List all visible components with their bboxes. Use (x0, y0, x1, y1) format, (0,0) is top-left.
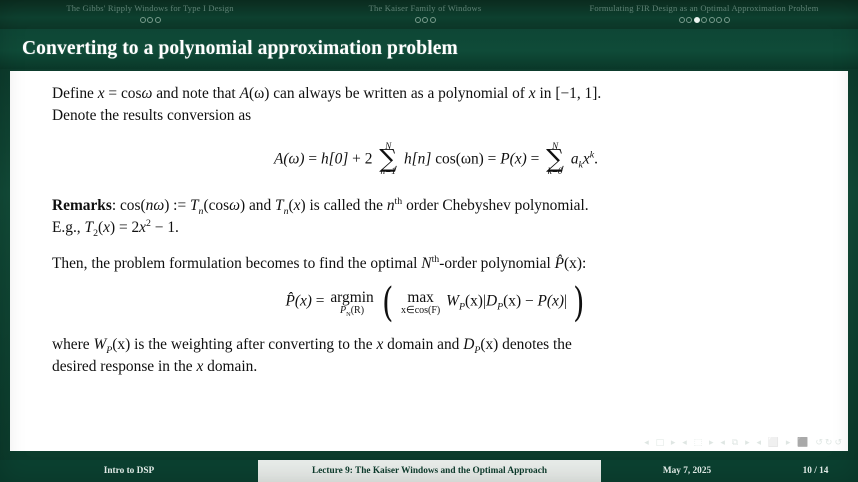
where-line-2: desired response in the x domain. (52, 356, 820, 378)
beamer-headline-navigation: The Gibbs' Ripply Windows for Type I Des… (0, 0, 858, 29)
eq1-Px: P(x) (500, 150, 526, 167)
desired-D: D (463, 336, 474, 353)
var-omega: ω (153, 197, 164, 214)
footer-author: Intro to DSP (0, 460, 258, 482)
page-title: Converting to a polynomial approximation… (22, 38, 458, 60)
max-operator: max x∈cos(F) (401, 290, 440, 316)
weight-W: W (93, 336, 106, 353)
nav-section-dots[interactable] (550, 15, 858, 24)
text: can always be written as a polynomial of (269, 85, 528, 102)
remarks-line-2: E.g., T2(x) = 2x2 − 1. (52, 217, 820, 239)
weight-W: W (446, 293, 459, 310)
max-domain: x∈cos(F) (401, 305, 440, 316)
remarks-line-1: Remarks: cos(nω) := Tn(cosω) and Tn(x) i… (52, 195, 820, 217)
paragraph-then: Then, the problem formulation becomes to… (52, 253, 820, 275)
poly-P-arg: (x) (564, 255, 582, 272)
desired-D-arg: (x) (503, 293, 521, 310)
var-x: x (98, 85, 105, 102)
nav-section-dots[interactable] (300, 15, 550, 24)
nav-dot[interactable] (155, 17, 161, 23)
paragraph-remarks: Remarks: cos(nω) := Tn(cosω) and Tn(x) i… (52, 195, 820, 239)
text: and note that (152, 85, 239, 102)
nav-dot[interactable] (686, 17, 692, 23)
var-N: N (421, 255, 431, 272)
sum-lower-limit: n=1 (379, 167, 397, 176)
poly-Px: P(x) (538, 293, 564, 310)
paren-open: ( (382, 289, 393, 317)
nav-dot[interactable] (422, 17, 428, 23)
eq1-cos: cos(ωn) (435, 150, 484, 167)
nav-section-title: The Gibbs' Ripply Windows for Type I Des… (0, 3, 300, 13)
cheb-T: T (85, 219, 94, 236)
eq1-h0: h[0] (321, 150, 348, 167)
nav-dot[interactable] (415, 17, 421, 23)
eq1-equals-2: = (488, 150, 497, 167)
define-line-2: Denote the results conversion as (52, 105, 820, 127)
paren-close: ) (573, 289, 584, 317)
eq1-period: . (594, 150, 598, 167)
nav-section-formulating[interactable]: Formulating FIR Design as an Optimal App… (550, 0, 858, 24)
max-label: max (401, 290, 440, 306)
nav-section-title: The Kaiser Family of Windows (300, 3, 550, 13)
text: is the weighting after converting to the (130, 336, 376, 353)
eq1-var-x: x (583, 150, 590, 167)
eq1-coeff-a: a (571, 150, 579, 167)
minus-sign: − (521, 293, 537, 310)
interval: [−1, 1]. (555, 85, 601, 102)
text: Then, the problem formulation becomes to… (52, 255, 421, 272)
text: in (536, 85, 556, 102)
nav-dot[interactable] (147, 17, 153, 23)
text: : (112, 197, 120, 214)
nav-dot[interactable] (716, 17, 722, 23)
frame-title-bar: Converting to a polynomial approximation… (0, 29, 858, 69)
weight-W-arg: (x) (112, 336, 130, 353)
abs-bar-close: | (564, 293, 567, 310)
var-x: x (529, 85, 536, 102)
summation-k: N ∑ k=0 (546, 142, 564, 176)
func-A: A (240, 85, 249, 102)
text: ) and (240, 197, 275, 214)
text: cos( (120, 197, 146, 214)
nav-section-gibbs[interactable]: The Gibbs' Ripply Windows for Type I Des… (0, 0, 300, 24)
text: denotes the (498, 336, 572, 353)
beamer-navigation-symbols[interactable]: ◂ □ ▸ ◂ ⬚ ▸ ◂ ⧉ ▸ ◂ ⬜ ▸ ⬛ ↺↻↺ (644, 438, 844, 448)
argmin-domain: PN(R) (330, 305, 373, 316)
func-A-arg: (ω) (249, 85, 269, 102)
text: ) is called the (301, 197, 387, 214)
footer-lecture-title: Lecture 9: The Kaiser Windows and the Op… (258, 460, 601, 482)
text: E.g., (52, 219, 85, 236)
var-x: x (139, 219, 146, 236)
define-line-1: Define x = cosω and note that A(ω) can a… (52, 83, 820, 105)
argmin-operator: argmin PN(R) (330, 290, 373, 316)
desired-D-arg: (x) (480, 336, 498, 353)
poly-space-field: (R) (351, 305, 364, 316)
footer-date: May 7, 2025 (601, 460, 773, 482)
var-n: n (387, 197, 395, 214)
weight-W-arg: (x) (465, 293, 483, 310)
nav-dot[interactable] (724, 17, 730, 23)
text: domain. (203, 358, 257, 375)
presentation-slide: The Gibbs' Ripply Windows for Type I Des… (0, 0, 858, 482)
text: desired response in the (52, 358, 196, 375)
paragraph-where: where WP(x) is the weighting after conve… (52, 334, 820, 378)
paragraph-define: Define x = cosω and note that A(ω) can a… (52, 83, 820, 127)
eq2-lhs: P̂(x) (285, 293, 311, 310)
var-omega: ω (229, 197, 240, 214)
text: = cos (105, 85, 142, 102)
cheb-T: T (275, 197, 284, 214)
argmin-label: argmin (330, 290, 373, 306)
cheb-T: T (190, 197, 199, 214)
nav-section-kaiser[interactable]: The Kaiser Family of Windows (300, 0, 550, 24)
nav-section-dots[interactable] (0, 15, 300, 24)
equation-minimax-formulation: P̂(x) = argmin PN(R) ( max x∈cos(F) WP(x… (52, 288, 820, 316)
desired-D: D (486, 293, 497, 310)
eq1-equals-3: = (531, 150, 540, 167)
nav-dot-current[interactable] (694, 17, 700, 23)
beamer-footline: Intro to DSP Lecture 9: The Kaiser Windo… (0, 460, 858, 482)
text: domain and (383, 336, 463, 353)
nav-dot[interactable] (701, 17, 707, 23)
eq2-equals: = (316, 293, 325, 310)
slide-body: Define x = cosω and note that A(ω) can a… (10, 71, 848, 451)
equation-amplitude-response: A(ω) = h[0] + 2 N ∑ n=1 h[n] cos(ωn) = P… (52, 143, 820, 177)
text: ) := (164, 197, 190, 214)
eq1-equals: = (308, 150, 317, 167)
nav-dot[interactable] (709, 17, 715, 23)
text: − 1. (151, 219, 179, 236)
sum-lower-limit: k=0 (546, 167, 564, 176)
text: -order polynomial (439, 255, 554, 272)
text: Define (52, 85, 98, 102)
footer-page-number: 10 / 14 (773, 460, 858, 482)
nav-dot[interactable] (430, 17, 436, 23)
summation-n: N ∑ n=1 (379, 142, 397, 176)
text: (cos (203, 197, 229, 214)
text: ) = 2 (110, 219, 139, 236)
eq1-lhs: A(ω) (274, 150, 305, 167)
text: : (582, 255, 586, 272)
nav-dot[interactable] (679, 17, 685, 23)
where-line-1: where WP(x) is the weighting after conve… (52, 334, 820, 356)
remarks-label: Remarks (52, 197, 112, 214)
nav-section-title: Formulating FIR Design as an Optimal App… (550, 3, 858, 13)
var-x: x (294, 197, 301, 214)
var-omega: ω (141, 85, 152, 102)
poly-P-hat: P̂ (555, 255, 564, 272)
eq1-plus-two: + 2 (352, 150, 372, 167)
text: order Chebyshev polynomial. (402, 197, 588, 214)
text: where (52, 336, 93, 353)
var-x: x (103, 219, 110, 236)
nav-dot[interactable] (140, 17, 146, 23)
eq1-hn: h[n] (404, 150, 431, 167)
then-line: Then, the problem formulation becomes to… (52, 253, 820, 275)
